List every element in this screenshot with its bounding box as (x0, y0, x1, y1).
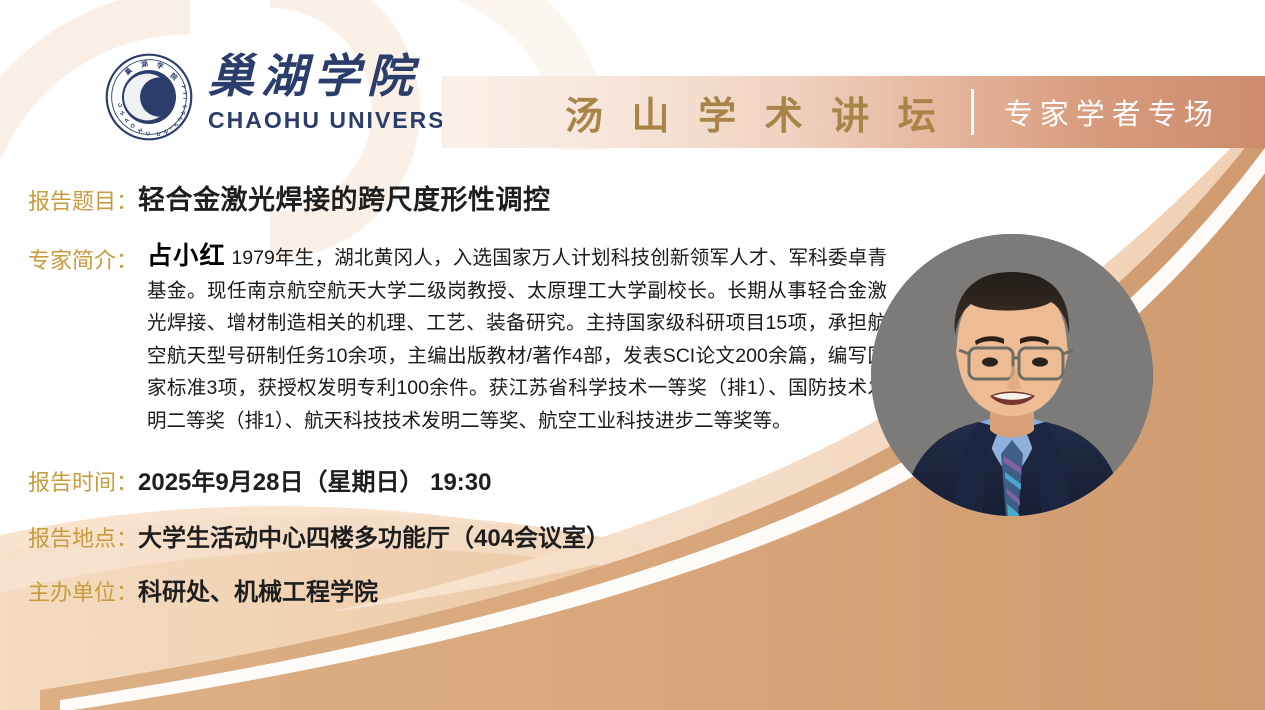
row-report-location: 报告地点： 大学生活动中心四楼多功能厅（404会议室） (28, 518, 610, 553)
value-report-location: 大学生活动中心四楼多功能厅（404会议室） (138, 518, 610, 553)
row-organizer: 主办单位： 科研处、机械工程学院 (28, 572, 378, 607)
label-speaker-bio: 专家简介： (28, 243, 138, 275)
row-report-time: 报告时间： 2025年9月28日（星期日） 19:30 (28, 462, 492, 497)
row-report-title: 报告题目： 轻合金激光焊接的跨尺度形性调控 (28, 178, 551, 217)
label-organizer: 主办单位： (28, 575, 138, 607)
speaker-bio-body: 1979年生，湖北黄冈人，入选国家万人计划科技创新领军人才、军科委卓青基金。现任… (147, 247, 887, 432)
value-report-time: 2025年9月28日（星期日） 19:30 (138, 462, 491, 497)
speaker-bio-text: 占小红 1979年生，湖北黄冈人，入选国家万人计划科技创新领军人才、军科委卓青基… (147, 240, 887, 437)
value-report-title: 轻合金激光焊接的跨尺度形性调控 (138, 178, 551, 217)
speaker-portrait-image (871, 234, 1153, 516)
value-organizer: 科研处、机械工程学院 (138, 572, 378, 607)
speaker-name: 占小红 (147, 242, 226, 270)
speaker-portrait (871, 234, 1153, 516)
poster-root: 1977 巢 湖 学 院 C H A O H U U N I V (0, 0, 1265, 710)
label-report-location: 报告地点： (28, 521, 138, 553)
label-report-title: 报告题目： (28, 184, 138, 216)
label-report-time: 报告时间： (28, 465, 138, 497)
row-speaker-bio: 专家简介： 占小红 1979年生，湖北黄冈人，入选国家万人计划科技创新领军人才、… (28, 240, 888, 437)
